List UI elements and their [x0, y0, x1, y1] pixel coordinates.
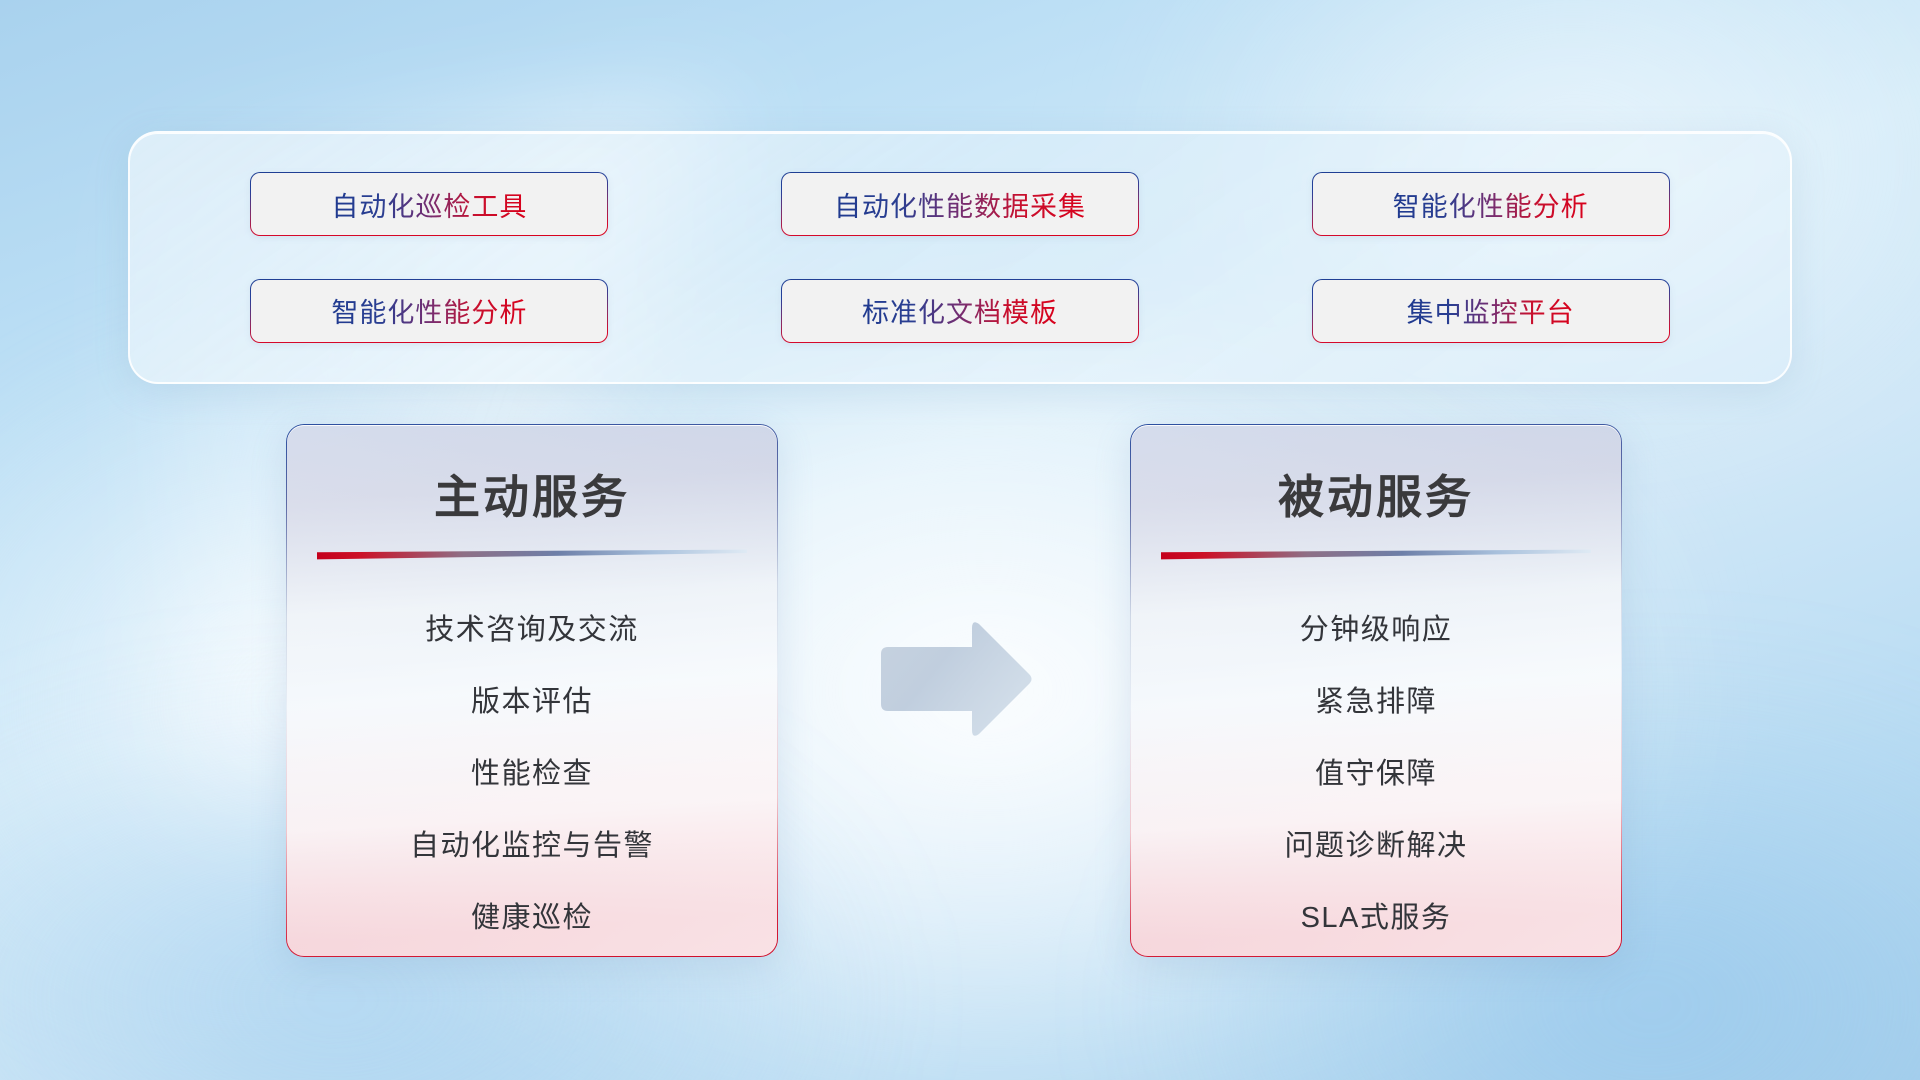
service-card-item-list: 技术咨询及交流 版本评估 性能检查 自动化监控与告警 健康巡检 — [287, 591, 777, 951]
list-item: SLA式服务 — [1301, 879, 1452, 951]
capability-pill-automated-performance-data-collection[interactable]: 自动化性能数据采集 — [781, 172, 1139, 236]
capability-panel: 自动化巡检工具 自动化性能数据采集 智能化性能分析 智能化性能分析 标准化文档模… — [128, 131, 1792, 384]
capability-pill-grid: 自动化巡检工具 自动化性能数据采集 智能化性能分析 智能化性能分析 标准化文档模… — [130, 133, 1790, 382]
capability-pill-standardized-document-template[interactable]: 标准化文档模板 — [781, 279, 1139, 343]
capability-pill-label: 标准化文档模板 — [862, 291, 1058, 330]
list-item: 性能检查 — [471, 735, 593, 807]
title-divider — [1161, 549, 1591, 561]
title-divider — [317, 549, 747, 561]
list-item: 健康巡检 — [471, 879, 593, 951]
service-card-reactive: 被动服务 分钟级响应 紧急排障 值守保障 问题诊断解决 SLA式服务 — [1130, 424, 1622, 957]
list-item: 紧急排障 — [1315, 663, 1437, 735]
capability-pill-label: 智能化性能分析 — [331, 291, 527, 330]
capability-pill-centralized-monitoring-platform[interactable]: 集中监控平台 — [1312, 279, 1670, 343]
list-item: 值守保障 — [1315, 735, 1437, 807]
capability-pill-label: 集中监控平台 — [1407, 291, 1575, 330]
capability-pill-label: 智能化性能分析 — [1393, 185, 1589, 224]
list-item: 分钟级响应 — [1300, 591, 1453, 663]
capability-pill-label: 自动化巡检工具 — [331, 185, 527, 224]
service-card-proactive: 主动服务 技术咨询及交流 版本评估 性能检查 自动化监控与告警 健康巡检 — [286, 424, 778, 957]
list-item: 技术咨询及交流 — [425, 591, 639, 663]
arrow-right-icon — [875, 618, 1035, 740]
service-card-item-list: 分钟级响应 紧急排障 值守保障 问题诊断解决 SLA式服务 — [1131, 591, 1621, 951]
capability-pill-intelligent-performance-analysis-bottom[interactable]: 智能化性能分析 — [250, 279, 608, 343]
capability-pill-intelligent-performance-analysis-top[interactable]: 智能化性能分析 — [1312, 172, 1670, 236]
service-card-title: 主动服务 — [287, 461, 777, 527]
capability-pill-label: 自动化性能数据采集 — [834, 185, 1086, 224]
list-item: 问题诊断解决 — [1284, 807, 1467, 879]
list-item: 自动化监控与告警 — [410, 807, 654, 879]
capability-pill-automated-inspection-tool[interactable]: 自动化巡检工具 — [250, 172, 608, 236]
list-item: 版本评估 — [471, 663, 593, 735]
service-card-title: 被动服务 — [1131, 461, 1621, 527]
